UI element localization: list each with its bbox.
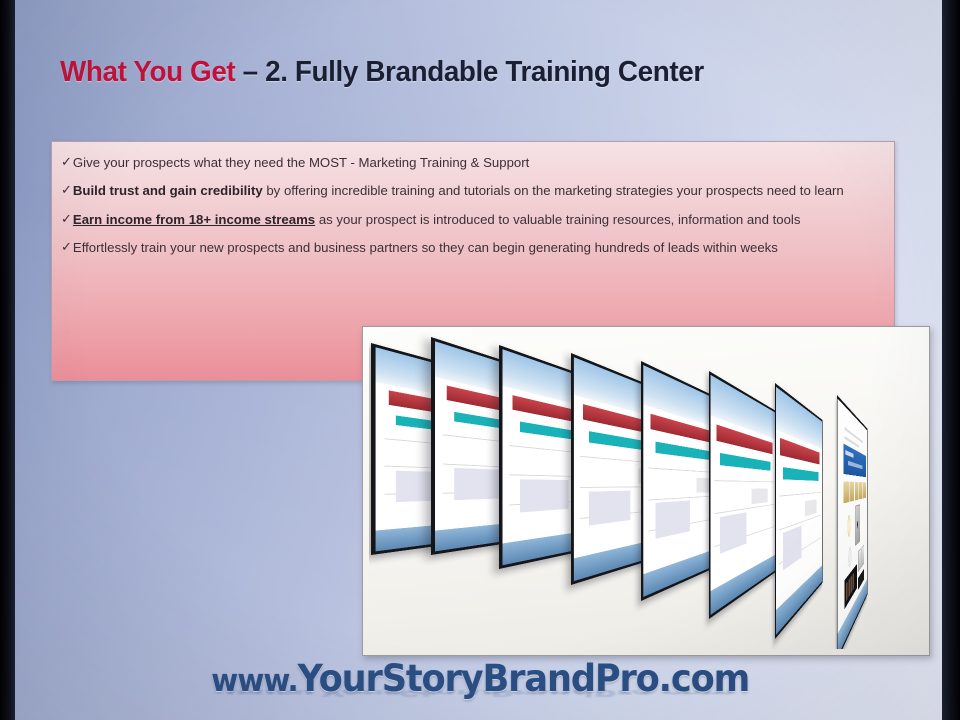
benefit-item: ✓Effortlessly train your new prospects a… [61, 238, 880, 257]
website-screenshot [776, 387, 822, 635]
check-icon: ✓ [61, 181, 72, 199]
accent-band [783, 467, 819, 480]
benefit-text-segment: Build trust and gain credibility [73, 183, 263, 198]
feature-icon [863, 482, 866, 498]
content-block [720, 512, 746, 553]
screenshot-frame[interactable] [837, 395, 867, 649]
presentation-slide: What You Get – 2. Fully Brandable Traini… [0, 0, 960, 720]
site-logo [845, 450, 853, 458]
benefits-list: ✓Give your prospects what they need the … [52, 142, 894, 257]
benefit-item: ✓Earn income from 18+ income streams as … [61, 210, 880, 229]
content-block [656, 501, 690, 539]
divider [779, 492, 821, 497]
footer-url-reflection: www.YourStoryBrandPro.com [24, 690, 936, 700]
benefit-text-segment: by offering incredible training and tuto… [263, 183, 844, 198]
benefit-text-segment: Effortlessly train your new prospects an… [73, 240, 778, 255]
slide-headline: What You Get – 2. Fully Brandable Traini… [60, 56, 704, 89]
letterbox-left [0, 0, 15, 720]
feature-icon [855, 482, 859, 500]
site-footer-band [776, 565, 822, 634]
screenshot-frame[interactable] [709, 371, 777, 619]
benefit-item: ✓Give your prospects what they need the … [61, 153, 880, 172]
benefit-item: ✓Build trust and gain credibility by off… [61, 181, 880, 200]
content-block [805, 499, 816, 516]
benefit-text-segment: Give your prospects what they need the M… [73, 155, 529, 170]
divider [715, 481, 775, 483]
benefit-text: Earn income from 18+ income streams as y… [73, 210, 880, 229]
letterbox-right [942, 0, 960, 720]
feature-icon [850, 482, 854, 502]
content-block [783, 526, 801, 571]
play-button-icon[interactable] [855, 505, 860, 547]
accent-band [720, 453, 771, 470]
site-nav [848, 461, 862, 469]
screenshot-gallery-inner [369, 333, 923, 649]
check-icon: ✓ [61, 153, 72, 171]
feature-icon-row [844, 481, 866, 502]
check-icon: ✓ [61, 238, 72, 256]
seal-graphic [848, 546, 851, 569]
screenshot-deck [369, 333, 923, 649]
feature-icon [844, 481, 849, 502]
content-block [520, 479, 569, 512]
website-screenshot [711, 375, 776, 615]
headline-dark-part: – 2. Fully Brandable Training Center [235, 56, 703, 88]
benefit-text: Give your prospects what they need the M… [73, 153, 880, 172]
feature-icon [859, 482, 862, 499]
benefit-text-segment: Earn income from 18+ income streams [73, 212, 315, 227]
site-footer-band [711, 554, 776, 615]
screenshot-frame[interactable] [775, 383, 823, 639]
content-block [589, 490, 630, 525]
site-header-bar [843, 443, 866, 477]
content-block [751, 488, 767, 504]
benefit-text-segment: as your prospect is introduced to valuab… [315, 212, 800, 227]
benefit-text: Effortlessly train your new prospects an… [73, 238, 880, 257]
badge-graphic [847, 514, 850, 538]
check-icon: ✓ [61, 210, 72, 228]
headline-red-part: What You Get [60, 56, 235, 88]
website-screenshot-front [838, 399, 867, 649]
screenshot-gallery-panel [362, 326, 930, 656]
benefit-text: Build trust and gain credibility by offe… [73, 181, 880, 200]
